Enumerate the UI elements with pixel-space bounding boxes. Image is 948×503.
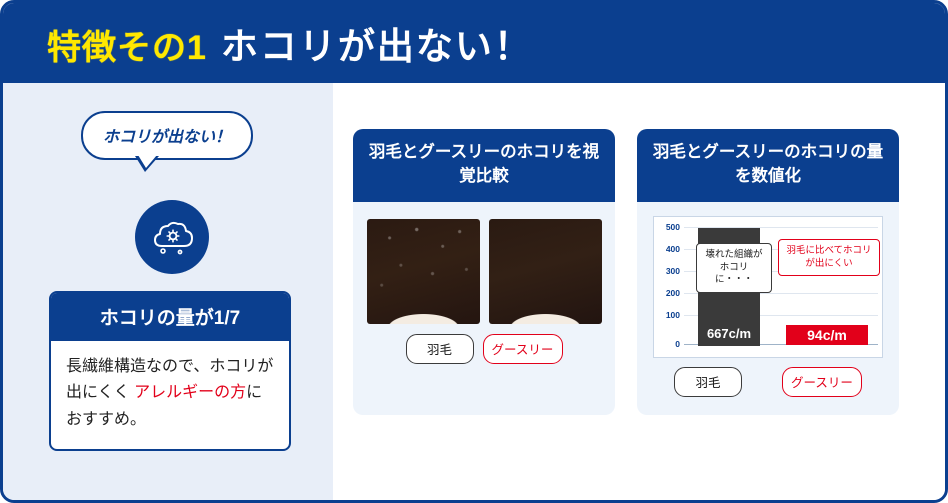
content-body: ホコリが出ない！ (3, 83, 945, 500)
header-banner: 特徴その1 ホコリが出ない！ (3, 3, 945, 83)
dust-cloud-icon (135, 200, 209, 274)
left-column: ホコリが出ない！ (3, 83, 333, 500)
feature-card: 特徴その1 ホコリが出ない！ ホコリが出ない！ (0, 0, 948, 503)
chart-label-down: 羽毛 (674, 367, 742, 397)
ytick-500: 500 (654, 222, 680, 232)
ytick-400: 400 (654, 244, 680, 254)
ytick-200: 200 (654, 288, 680, 298)
right-column: 羽毛とグースリーのホコリを視覚比較 羽毛 グースリー 羽毛とグースリーのホコリの… (333, 83, 945, 500)
photo-pair (353, 219, 615, 324)
bar-value-down-feather: 667c/m (698, 326, 760, 341)
panel-visual-title: 羽毛とグースリーのホコリを視覚比較 (353, 129, 615, 202)
photo-goosely (489, 219, 602, 324)
callout-dark: 壊れた組織がホコリに・・・ (696, 243, 772, 293)
chart-category-labels: 羽毛 グースリー (637, 367, 899, 397)
info-card-heading: ホコリの量が1/7 (51, 293, 289, 341)
ytick-100: 100 (654, 310, 680, 320)
ytick-0: 0 (654, 339, 680, 349)
info-card-accent: アレルギーの方 (134, 384, 246, 401)
info-card-body: 長繊維構造なので、ホコリが出にくく アレルギーの方におすすめ。 (51, 341, 289, 449)
dust-amount-chart: 500 400 300 200 100 0 94c/m 667c/m (653, 216, 883, 358)
panel-group: 羽毛とグースリーのホコリを視覚比較 羽毛 グースリー 羽毛とグースリーのホコリの… (353, 129, 899, 415)
header-highlight: 特徴その1 (47, 20, 207, 69)
panel-chart-title: 羽毛とグースリーのホコリの量を数値化 (637, 129, 899, 202)
photo-down-feather (367, 219, 480, 324)
ytick-300: 300 (654, 266, 680, 276)
photo-labels: 羽毛 グースリー (353, 334, 615, 364)
panel-visual-comparison: 羽毛とグースリーのホコリを視覚比較 羽毛 グースリー (353, 129, 615, 415)
info-card: ホコリの量が1/7 長繊維構造なので、ホコリが出にくく アレルギーの方におすすめ… (49, 291, 291, 451)
callout-red: 羽毛に比べてホコリが出にくい (778, 239, 880, 277)
photo-label-goosely: グースリー (483, 334, 563, 364)
bar-goosely: 94c/m (786, 325, 868, 345)
bar-value-goosely: 94c/m (807, 327, 847, 343)
page-title: ホコリが出ない！ (221, 16, 533, 70)
panel-numeric-comparison: 羽毛とグースリーのホコリの量を数値化 500 400 300 200 1 (637, 129, 899, 415)
speech-bubble-text: ホコリが出ない！ (103, 129, 231, 146)
photo-label-down: 羽毛 (406, 334, 474, 364)
chart-label-goosely: グースリー (782, 367, 862, 397)
header-inner: 特徴その1 ホコリが出ない！ (3, 16, 533, 70)
speech-bubble: ホコリが出ない！ (81, 111, 253, 160)
